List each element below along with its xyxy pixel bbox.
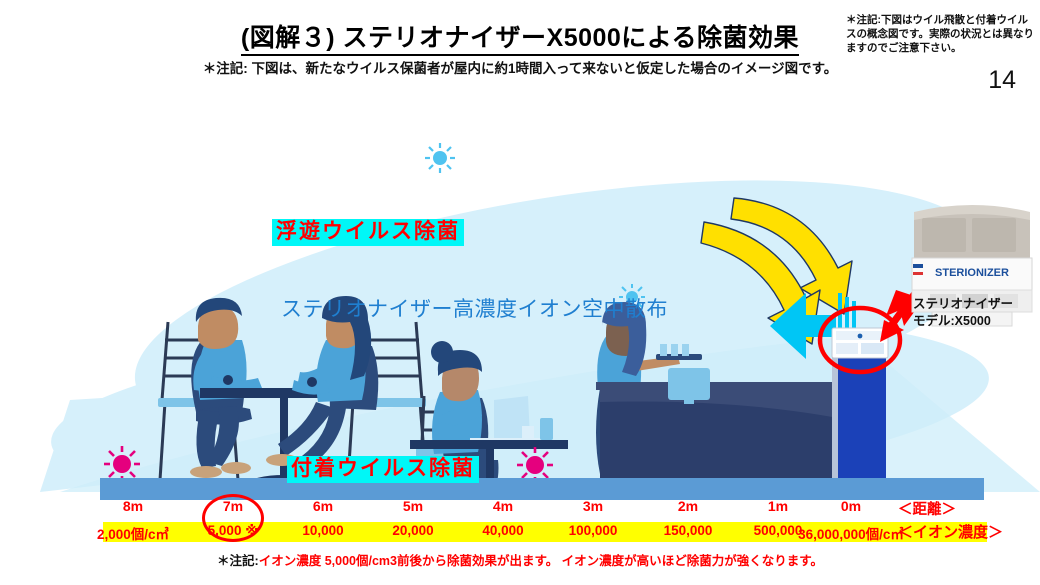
sterionizer-unit-small (832, 328, 888, 358)
virus-icon-air-1 (425, 143, 455, 173)
device-caption-line1: ステリオナイザー (913, 296, 1013, 313)
footer-note: ＊注記:イオン濃度 5,000個/cm3前後から除菌効果が出ます。 イオン濃度が… (0, 550, 1040, 569)
corner-note: ＊注記:下図はウイル飛散と付着ウイルスの概念図です。実際の状況とは異なりますので… (846, 14, 1034, 56)
label-surface-disinfection: 付着ウイルス除菌 (287, 456, 479, 483)
virus-icon-surface-2 (104, 446, 140, 482)
illustration-stage: STERIONIZER 浮遊ウイルス除菌 付着ウイルス除菌 ステリオナイザー高濃… (0, 100, 1040, 500)
label-air-disinfection: 浮遊ウイルス除菌 (272, 219, 464, 246)
ion-value-2m: 150,000 (664, 523, 713, 538)
ion-value-0m: 36,000,000個/c㎥ (798, 523, 904, 543)
distance-tick-row: 8m7m6m5m4m3m2m1m0m (0, 498, 1040, 520)
footer-note-lead: ＊注記: (217, 554, 259, 568)
distance-tick-7m: 7m (223, 498, 243, 514)
page-title-text: (図解３) ステリオナイザーX5000による除菌効果 (241, 24, 799, 56)
distance-tick-8m: 8m (123, 498, 143, 514)
distance-tick-1m: 1m (768, 498, 788, 514)
ion-value-8m: 2,000個/c㎥ (97, 523, 169, 543)
ion-value-5m: 20,000 (392, 523, 433, 538)
page-number: 14 (988, 66, 1016, 95)
distance-tick-6m: 6m (313, 498, 333, 514)
label-ion-dispersion: ステリオナイザー高濃度イオン空中散布 (281, 293, 668, 323)
distance-tick-5m: 5m (403, 498, 423, 514)
ion-unit-label: ＜イオン濃度＞ (898, 521, 1003, 542)
ion-value-3m: 100,000 (569, 523, 618, 538)
ion-value-4m: 40,000 (482, 523, 523, 538)
header-subnote: ＊注記: 下図は、新たなウイルス保菌者が屋内に約1時間入って来ないと仮定した場合… (0, 57, 1040, 77)
device-caption: ステリオナイザー モデル:X5000 (913, 296, 1013, 330)
distance-tick-2m: 2m (678, 498, 698, 514)
device-caption-line2: モデル:X5000 (913, 313, 1013, 330)
monitor-icon (668, 368, 710, 404)
footer-note-body: イオン濃度 5,000個/cm3前後から除菌効果が出ます。 イオン濃度が高いほど… (259, 554, 823, 568)
floor-band (100, 478, 984, 500)
service-counter (596, 382, 872, 478)
distance-unit-label: ＜距離＞ (898, 498, 956, 519)
distance-tick-4m: 4m (493, 498, 513, 514)
pedestal-column (832, 356, 886, 488)
svg-text:STERIONIZER: STERIONIZER (935, 267, 1009, 279)
glasses-on-tray-icon (660, 344, 689, 356)
distance-tick-3m: 3m (583, 498, 603, 514)
virus-icon-surface-1 (517, 447, 553, 483)
ion-value-6m: 10,000 (302, 523, 343, 538)
ion-value-7m: 5,000 ※ (208, 523, 259, 539)
slide-root: (図解３) ステリオナイザーX5000による除菌効果 ＊注記: 下図は、新たなウ… (0, 0, 1040, 585)
distance-concentration-scale: 8m7m6m5m4m3m2m1m0m 2,000個/c㎥5,000 ※10,00… (0, 498, 1040, 585)
ion-value-1m: 500,000 (754, 523, 803, 538)
distance-tick-0m: 0m (841, 498, 861, 514)
